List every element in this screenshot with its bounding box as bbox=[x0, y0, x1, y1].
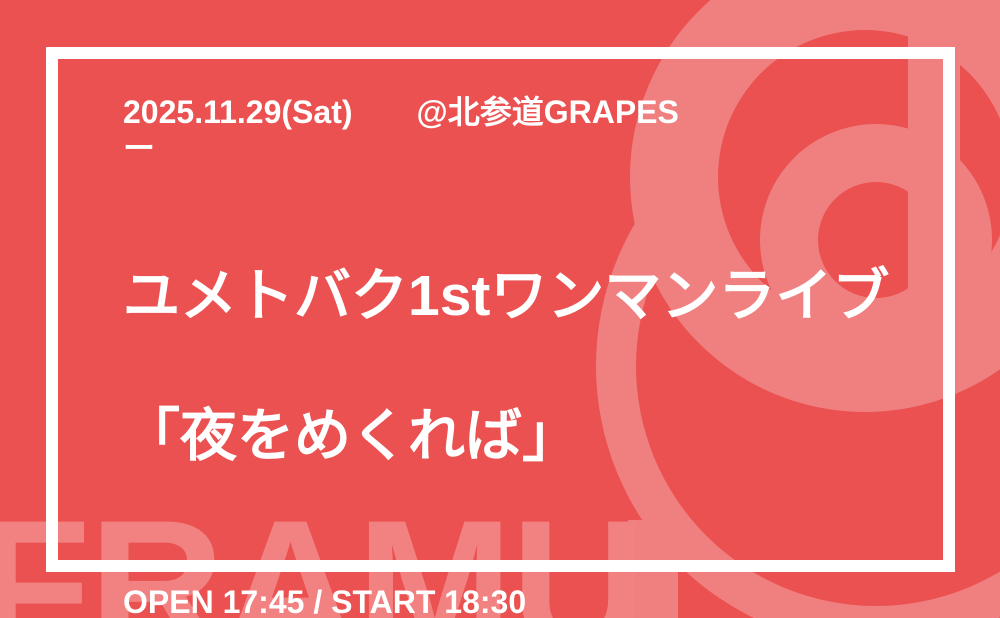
event-title-line-1: ユメトバク1stワンマンライブ bbox=[123, 261, 923, 331]
flyer-content: 2025.11.29(Sat) @北参道GRAPES ー ユメトバク1stワンマ… bbox=[123, 94, 923, 618]
event-date-venue: 2025.11.29(Sat) @北参道GRAPES bbox=[123, 94, 923, 130]
page-title: ユメトバク1stワンマンライブ 「夜をめくれば」 bbox=[123, 191, 923, 542]
event-times: OPEN 17:45 / START 18:30 bbox=[123, 584, 923, 618]
flyer-canvas: FRAMU 2025.11.29(Sat) @北参道GRAPES ー ユメトバク… bbox=[0, 0, 1000, 618]
divider-dash: ー bbox=[123, 130, 923, 166]
event-title-line-2: 「夜をめくれば」 bbox=[123, 401, 923, 471]
